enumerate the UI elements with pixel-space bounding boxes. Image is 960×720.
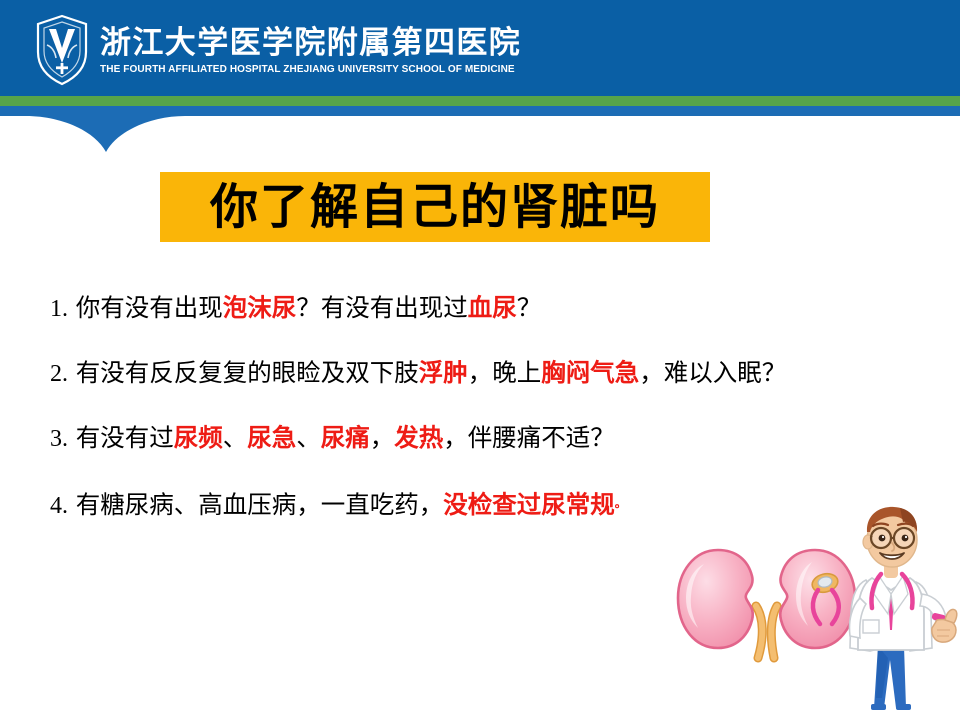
shield-v-logo-icon xyxy=(34,14,90,86)
question-line: 3. 有没有过尿频、尿急、尿痛，发热，伴腰痛不适？ xyxy=(50,422,930,455)
question-text: 你有没有出现 xyxy=(76,293,223,322)
question-text: ，伴腰痛不适？ xyxy=(443,423,615,452)
question-text: ？有没有出现过 xyxy=(296,293,468,322)
hospital-name-en: THE FOURTH AFFILIATED HOSPITAL ZHEJIANG … xyxy=(100,63,515,77)
hospital-name-cn: 浙江大学医学院附属第四医院 xyxy=(100,25,521,61)
hospital-logo: 浙江大学医学院附属第四医院 THE FOURTH AFFILIATED HOSP… xyxy=(34,11,434,89)
question-text: ， xyxy=(370,423,395,452)
doctor-figure xyxy=(849,507,956,710)
question-line: 2. 有没有反反复复的眼睑及双下肢浮肿，晚上胸闷气急，难以入眠？ xyxy=(50,357,930,390)
highlighted-term: 浮肿 xyxy=(419,358,468,387)
page-title: 你了解自己的肾脏吗 xyxy=(210,181,660,233)
highlighted-term: 没检查过尿常规 xyxy=(443,490,615,519)
question-text: ，晚上 xyxy=(468,358,542,387)
question-text: 、 xyxy=(223,423,248,452)
question-text: 有没有反反复复的眼睑及双下肢 xyxy=(76,358,419,387)
highlighted-term: 胸闷气急 xyxy=(541,358,639,387)
question-text: 有糖尿病、高血压病，一直吃药， xyxy=(76,490,444,519)
right-kidney xyxy=(780,550,855,648)
question-number: 3. xyxy=(50,426,68,452)
highlighted-term: 发热 xyxy=(394,423,443,452)
highlighted-term: 尿频 xyxy=(174,423,223,452)
question-number: 4. xyxy=(50,493,68,519)
question-number: 1. xyxy=(50,296,68,322)
highlighted-term: 尿急 xyxy=(247,423,296,452)
question-text: ？ xyxy=(517,293,542,322)
highlighted-term: 。 xyxy=(615,496,627,510)
highlighted-term: 尿痛 xyxy=(321,423,370,452)
question-text: ，难以入眠？ xyxy=(639,358,786,387)
question-number: 2. xyxy=(50,361,68,387)
title-banner: 你了解自己的肾脏吗 xyxy=(160,172,710,242)
kidneys-with-doctor-illustration xyxy=(660,498,960,720)
highlighted-term: 泡沫尿 xyxy=(223,293,297,322)
slide-canvas: 浙江大学医学院附属第四医院 THE FOURTH AFFILIATED HOSP… xyxy=(0,0,960,720)
logo-text-block: 浙江大学医学院附属第四医院 THE FOURTH AFFILIATED HOSP… xyxy=(100,23,521,77)
question-text: 、 xyxy=(296,423,321,452)
header-blue-underline xyxy=(0,106,960,152)
highlighted-term: 血尿 xyxy=(468,293,517,322)
question-line: 1. 你有没有出现泡沫尿？有没有出现过血尿？ xyxy=(50,292,930,325)
question-text: 有没有过 xyxy=(76,423,174,452)
